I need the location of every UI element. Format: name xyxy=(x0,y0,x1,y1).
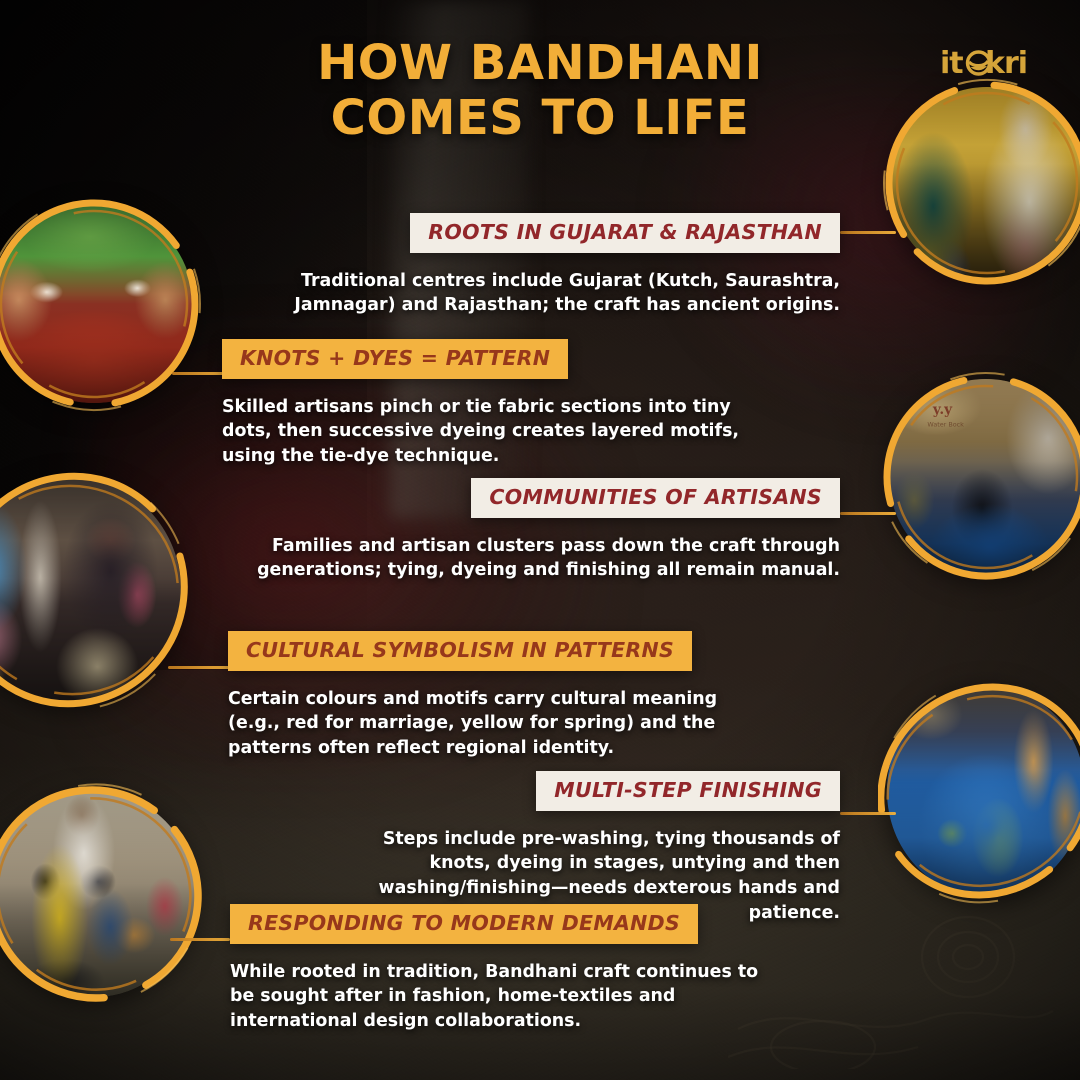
photo-indigo-dye-vat xyxy=(878,676,1080,906)
infographic-canvas: HOW BANDHANI COMES TO LIFE it kri xyxy=(0,0,1080,1080)
section-heading-badge: MULTI-STEP FINISHING xyxy=(536,771,840,811)
section-communities-of-artisans: COMMUNITIES OF ARTISANS Families and art… xyxy=(246,478,840,583)
connector-line-3 xyxy=(840,512,896,515)
section-heading-badge: KNOTS + DYES = PATTERN xyxy=(222,339,568,379)
photo-artisan-dyeing-blue-tub: y.y Water Bock xyxy=(880,370,1080,584)
section-responding-to-modern-demands: RESPONDING TO MODERN DEMANDS While roote… xyxy=(230,904,786,1034)
section-multi-step-finishing: MULTI-STEP FINISHING Steps include pre-w… xyxy=(320,771,840,925)
section-body-text: Traditional centres include Gujarat (Kut… xyxy=(280,269,840,318)
connector-line-5 xyxy=(840,812,896,815)
photo-disc xyxy=(0,205,193,403)
section-heading-badge: ROOTS IN GUJARAT & RAJASTHAN xyxy=(410,213,840,253)
photo-disc xyxy=(891,87,1080,279)
connector-line-6 xyxy=(170,938,230,941)
connector-line-1 xyxy=(840,231,896,234)
section-body-text: Certain colours and motifs carry cultura… xyxy=(228,687,768,761)
title-line-1: HOW BANDHANI xyxy=(0,36,1080,91)
photo-hands-tying-red-fabric xyxy=(0,196,202,412)
photo-artisan-lifting-yellow-fabric xyxy=(0,782,204,1006)
section-roots-in-gujarat-rajasthan: ROOTS IN GUJARAT & RAJASTHAN Traditional… xyxy=(280,213,840,318)
section-body-text: Families and artisan clusters pass down … xyxy=(246,534,840,583)
section-heading-badge: COMMUNITIES OF ARTISANS xyxy=(471,478,840,518)
section-knots-dyes-pattern: KNOTS + DYES = PATTERN Skilled artisans … xyxy=(222,339,752,469)
photo-disc xyxy=(0,477,181,703)
section-heading-badge: RESPONDING TO MODERN DEMANDS xyxy=(230,904,698,944)
photo-women-tying-knots xyxy=(882,78,1080,288)
section-body-text: While rooted in tradition, Bandhani craf… xyxy=(230,960,786,1034)
svg-text:it: it xyxy=(940,46,963,81)
section-cultural-symbolism-in-patterns: CULTURAL SYMBOLISM IN PATTERNS Certain c… xyxy=(228,631,768,761)
photo-disc xyxy=(887,685,1080,897)
section-heading-badge: CULTURAL SYMBOLISM IN PATTERNS xyxy=(228,631,692,671)
connector-line-4 xyxy=(168,666,230,669)
section-body-text: Skilled artisans pinch or tie fabric sec… xyxy=(222,395,752,469)
svg-text:kri: kri xyxy=(985,46,1027,81)
photo-woman-tying-fabric xyxy=(0,468,190,712)
photo-disc xyxy=(0,791,195,997)
photo-disc: y.y Water Bock xyxy=(889,379,1080,575)
